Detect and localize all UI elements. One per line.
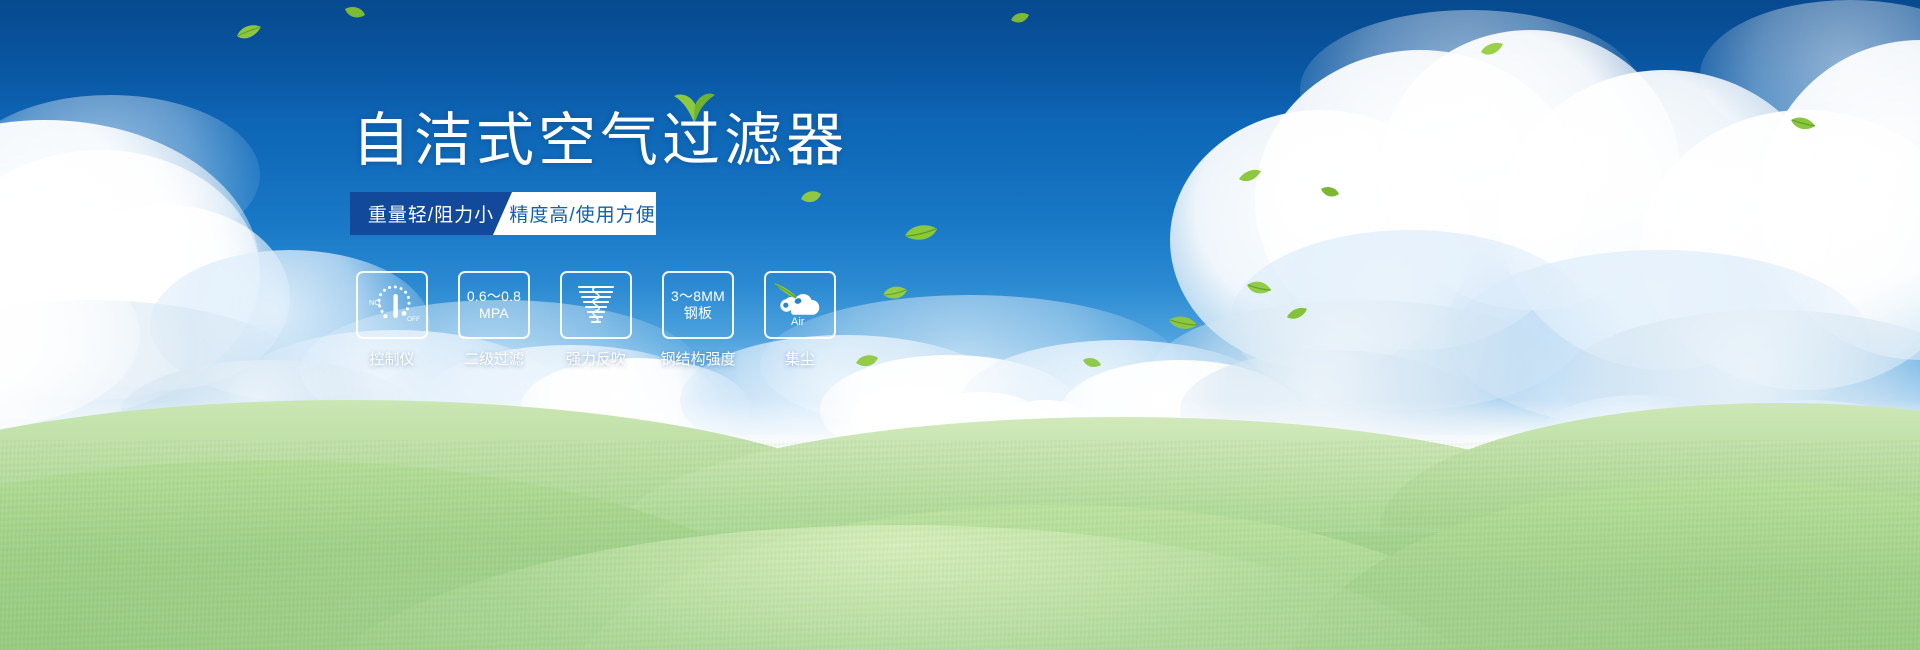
filter-coil-icon	[571, 281, 621, 329]
badge-row: 重量轻/阻力小 精度高/使用方便	[350, 192, 656, 235]
feature-label: 控制仪	[369, 348, 414, 369]
feature-label: 二级过滤	[464, 348, 524, 369]
feature-icon-box: 0.6～0.8 MPA	[458, 271, 530, 339]
banner-content: 自洁式空气过滤器 重量轻/阻力小 精度高/使用方便	[0, 0, 1920, 650]
banner-hero: 自洁式空气过滤器 重量轻/阻力小 精度高/使用方便	[0, 0, 1920, 650]
feature-value-line1: 3～8MM	[671, 288, 725, 304]
feature-value: 3～8MM 钢板	[671, 288, 725, 322]
badge-weight-resistance: 重量轻/阻力小	[350, 192, 512, 235]
feature-value-line2: MPA	[467, 305, 521, 322]
feature-label: 集尘	[785, 348, 815, 369]
feature-item-steel[interactable]: 3～8MM 钢板 钢结构强度	[662, 271, 734, 369]
feature-item-dust[interactable]: Air 集尘	[764, 271, 836, 369]
feature-icon-box: 3～8MM 钢板	[662, 271, 734, 339]
feature-item-pressure[interactable]: 0.6～0.8 MPA 二级过滤	[458, 271, 530, 369]
cloud-air-text: Air	[791, 316, 805, 328]
feature-label: 钢结构强度	[661, 348, 736, 369]
gauge-min-label: NO	[369, 298, 380, 307]
feature-value-line1: 0.6～0.8	[467, 288, 521, 304]
feature-item-backblow[interactable]: 强力反吹	[560, 271, 632, 369]
page-title: 自洁式空气过滤器	[352, 112, 848, 170]
feature-value: 0.6～0.8 MPA	[467, 288, 521, 322]
badge-label: 精度高/使用方便	[509, 200, 655, 227]
badge-precision-ease: 精度高/使用方便	[493, 192, 656, 235]
feature-value-line2: 钢板	[671, 305, 725, 322]
feature-icon-box	[560, 271, 632, 339]
gauge-max-label: OFF	[407, 316, 420, 323]
gauge-dial-icon: NO OFF	[364, 281, 420, 329]
feature-item-controller[interactable]: NO OFF 控制仪	[356, 271, 428, 369]
feature-icon-box: NO OFF	[356, 271, 428, 339]
feature-icon-box: Air	[764, 271, 836, 339]
feature-label: 强力反吹	[566, 348, 626, 369]
badge-label: 重量轻/阻力小	[368, 200, 494, 227]
feature-row: NO OFF 控制仪 0.6～0.8 MPA 二级过滤	[356, 271, 836, 369]
cloud-air-icon: Air	[771, 280, 829, 330]
